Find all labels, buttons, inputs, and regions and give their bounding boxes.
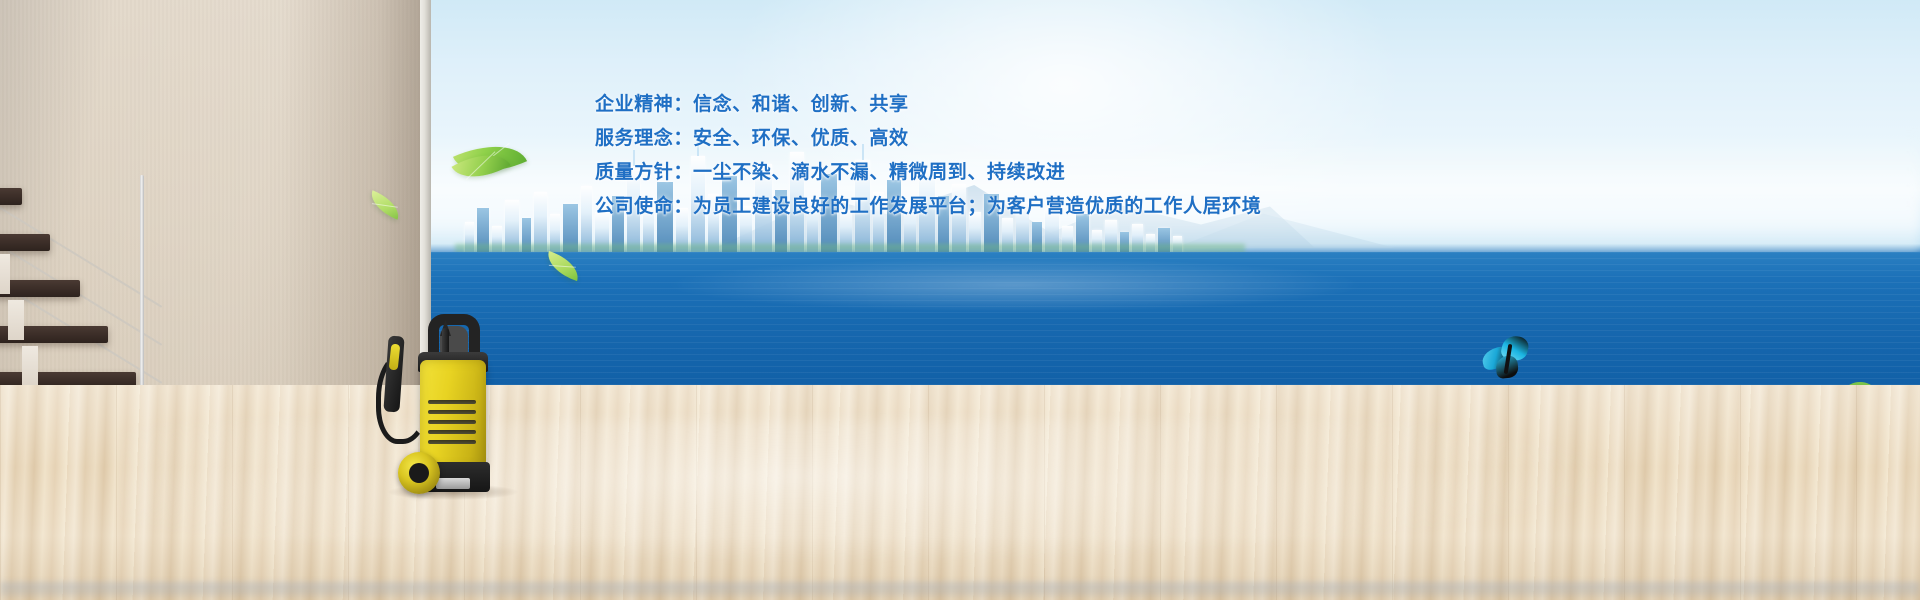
floor-sheen — [120, 420, 1620, 560]
wooden-floor — [0, 385, 1920, 600]
slogan-company-mission: 公司使命：为员工建设良好的工作发展平台；为客户营造优质的工作人居环境 — [595, 190, 1495, 224]
washer-body — [420, 360, 486, 468]
slogan-block: 企业精神：信念、和谐、创新、共享 服务理念：安全、环保、优质、高效 质量方针：一… — [595, 88, 1495, 224]
slogan-quality-policy: 质量方针：一尘不染、滴水不漏、精微周到、持续改进 — [595, 156, 1495, 190]
ocean-sheen — [665, 258, 1365, 312]
butterfly-icon — [1480, 334, 1536, 382]
company-culture-banner: 企业精神：信念、和谐、创新、共享 服务理念：安全、环保、优质、高效 质量方针：一… — [0, 0, 1920, 600]
pressure-washer — [380, 312, 520, 492]
floor-edge-band — [0, 582, 1920, 596]
slogan-enterprise-spirit: 企业精神：信念、和谐、创新、共享 — [595, 88, 1495, 122]
slogan-service-philosophy: 服务理念：安全、环保、优质、高效 — [595, 122, 1495, 156]
washer-wheel — [398, 452, 440, 494]
